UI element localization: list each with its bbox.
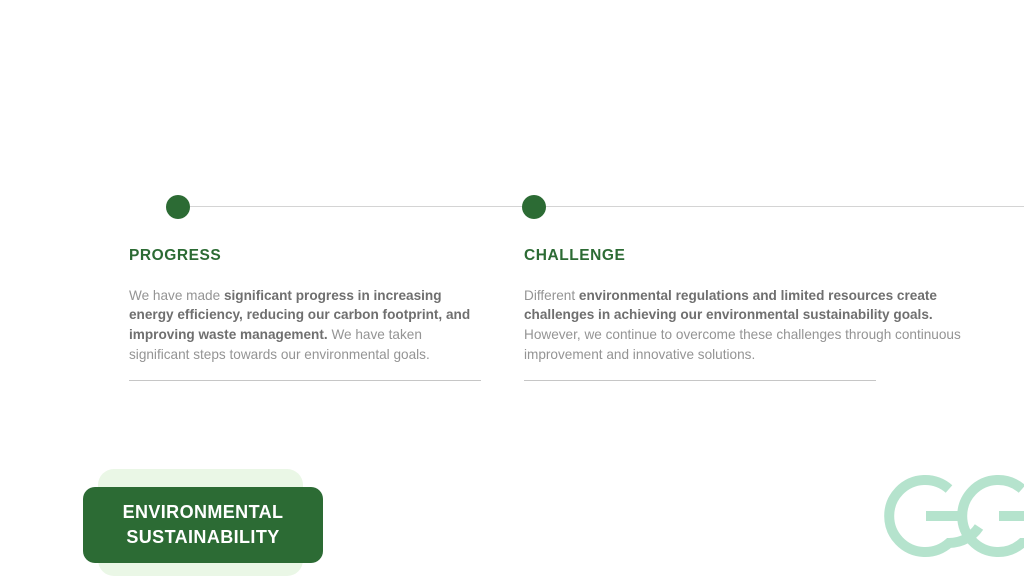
challenge-body-tail: However, we continue to overcome these c… — [524, 327, 961, 362]
challenge-body-emphasis: environmental regulations and limited re… — [524, 288, 937, 323]
topic-badge-label-line1: ENVIRONMENTAL — [123, 500, 284, 525]
challenge-body-lead: Different — [524, 288, 579, 303]
challenge-body: Different environmental regulations and … — [524, 286, 976, 365]
progress-body-lead: We have made — [129, 288, 224, 303]
timeline-track — [190, 206, 1024, 207]
topic-badge-label: ENVIRONMENTAL SUSTAINABILITY — [123, 500, 284, 550]
progress-divider — [129, 380, 481, 381]
slide-canvas: PROGRESS We have made significant progre… — [0, 0, 1024, 576]
progress-heading: PROGRESS — [129, 248, 481, 264]
challenge-heading: CHALLENGE — [524, 248, 976, 264]
timeline-dot-progress[interactable] — [166, 195, 190, 219]
progress-body: We have made significant progress in inc… — [129, 286, 481, 365]
topic-badge[interactable]: ENVIRONMENTAL SUSTAINABILITY — [83, 487, 323, 563]
topic-badge-label-line2: SUSTAINABILITY — [123, 525, 284, 550]
timeline-dot-challenge[interactable] — [522, 195, 546, 219]
gg-monogram-logo — [874, 456, 1024, 576]
column-progress: PROGRESS We have made significant progre… — [129, 248, 481, 365]
column-challenge: CHALLENGE Different environmental regula… — [524, 248, 976, 365]
challenge-divider — [524, 380, 876, 381]
